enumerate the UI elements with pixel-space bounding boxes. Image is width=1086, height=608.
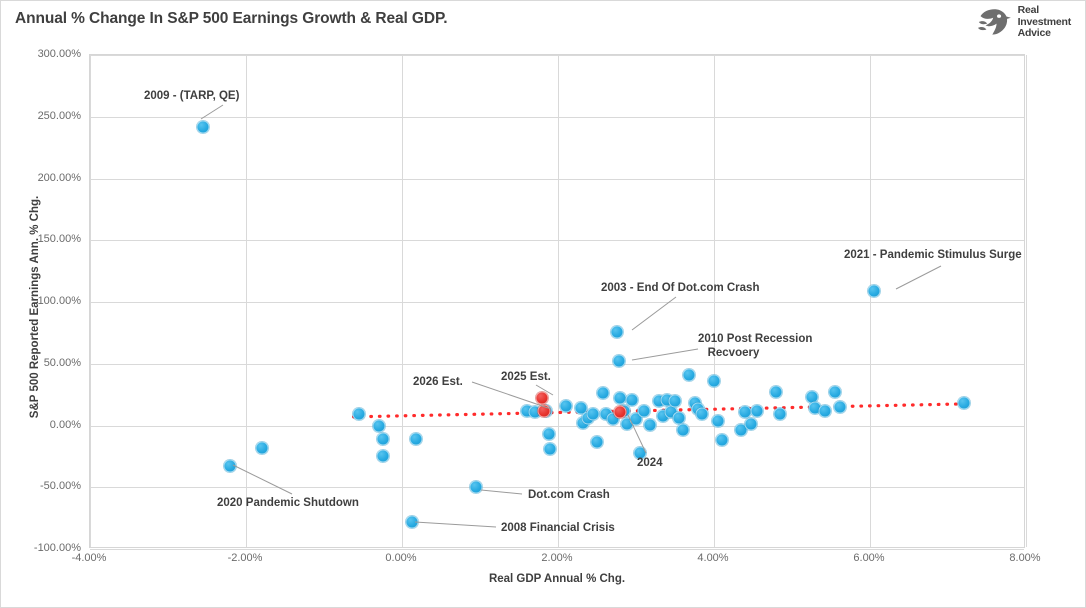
anno-dotcom: Dot.com Crash [528,489,610,503]
x-axis-tick-label: 0.00% [356,552,446,564]
scatter-point[interactable] [715,434,728,447]
scatter-point[interactable] [591,435,604,448]
x-axis-tick-label: 4.00% [668,552,758,564]
scatter-point[interactable] [373,420,386,433]
scatter-point[interactable] [867,284,880,297]
chart-page: Annual % Change In S&P 500 Earnings Grow… [0,0,1086,608]
anno-2024: 2024 [637,457,663,471]
scatter-point[interactable] [614,405,627,418]
gridline-vertical [1026,55,1027,547]
scatter-point[interactable] [610,325,623,338]
scatter-point[interactable] [353,408,366,421]
logo-text: Real Investment Advice [1018,5,1071,40]
logo-line-3: Advice [1018,28,1071,40]
scatter-point[interactable] [587,408,600,421]
scatter-point[interactable] [223,460,236,473]
scatter-point[interactable] [683,368,696,381]
scatter-point[interactable] [597,387,610,400]
scatter-point[interactable] [672,412,685,425]
scatter-point[interactable] [637,404,650,417]
scatter-point[interactable] [544,442,557,455]
scatter-point[interactable] [834,400,847,413]
scatter-point[interactable] [957,397,970,410]
plot-area [89,54,1025,548]
brand-logo: Real Investment Advice [977,5,1071,40]
scatter-point[interactable] [644,418,657,431]
scatter-point[interactable] [376,433,389,446]
chart-header: Annual % Change In S&P 500 Earnings Grow… [1,1,1086,41]
scatter-point[interactable] [559,399,572,412]
anno-2009: 2009 - (TARP, QE) [144,90,239,104]
scatter-point[interactable] [470,481,483,494]
gridline-horizontal [90,549,1024,550]
scatter-point[interactable] [745,418,758,431]
scatter-point[interactable] [612,355,625,368]
scatter-point[interactable] [406,515,419,528]
eagle-head-icon [977,6,1011,38]
scatter-point[interactable] [711,414,724,427]
anno-2020: 2020 Pandemic Shutdown [217,497,359,511]
scatter-point[interactable] [669,394,682,407]
x-axis-tick-label: -4.00% [44,552,134,564]
trendline [90,55,1026,549]
scatter-point[interactable] [255,441,268,454]
scatter-point[interactable] [696,408,709,421]
scatter-point[interactable] [626,393,639,406]
x-axis-title: Real GDP Annual % Chg. [89,573,1025,585]
scatter-point[interactable] [676,424,689,437]
scatter-point[interactable] [377,450,390,463]
scatter-point[interactable] [818,404,831,417]
anno-2008: 2008 Financial Crisis [501,522,615,536]
page-title: Annual % Change In S&P 500 Earnings Grow… [15,10,447,28]
anno-2003: 2003 - End Of Dot.com Crash [601,282,759,296]
scatter-point[interactable] [410,433,423,446]
anno-2025: 2025 Est. [501,371,551,385]
scatter-point[interactable] [542,428,555,441]
logo-line-1: Real [1018,5,1071,17]
scatter-point[interactable] [750,404,763,417]
x-axis-tick-label: -2.00% [200,552,290,564]
scatter-point[interactable] [708,375,721,388]
scatter-point[interactable] [536,392,549,405]
scatter-point[interactable] [770,386,783,399]
anno-2026: 2026 Est. [413,376,463,390]
x-axis-tick-label: 8.00% [980,552,1070,564]
anno-2021: 2021 - Pandemic Stimulus Surge [844,249,1022,263]
x-axis-tick-label: 6.00% [824,552,914,564]
scatter-point[interactable] [828,386,841,399]
scatter-point[interactable] [197,120,210,133]
anno-2010: 2010 Post Recession Recvoery [698,333,812,360]
y-axis-tick-label: 300.00% [0,48,81,60]
x-axis-tick-label: 2.00% [512,552,602,564]
y-axis-title: S&P 500 Reported Earnings Ann. % Chg. [29,87,41,527]
scatter-point[interactable] [537,404,550,417]
scatter-point[interactable] [774,408,787,421]
